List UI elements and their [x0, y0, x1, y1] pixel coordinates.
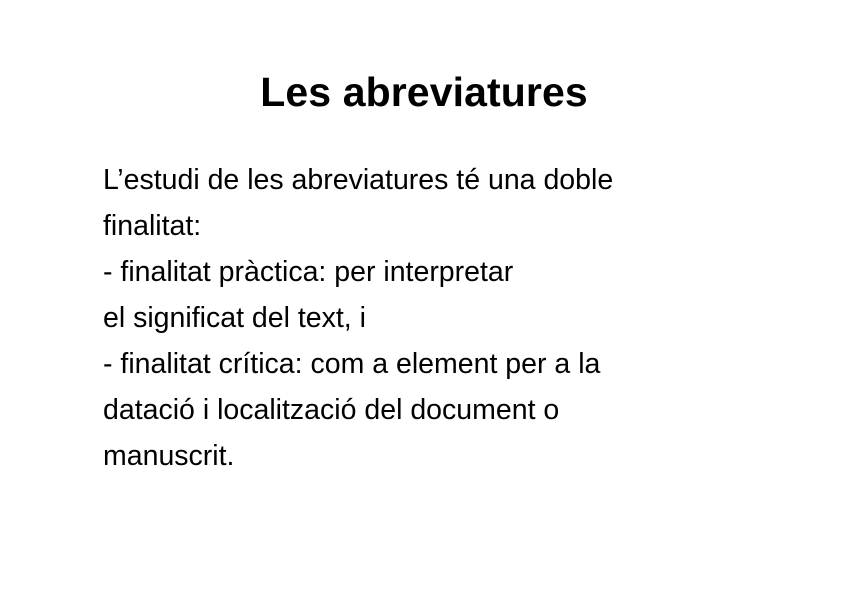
body-line: - finalitat crítica: com a element per a…: [103, 341, 763, 387]
body-line: el significat del text, i: [103, 295, 763, 341]
body-line: datació i localització del document o: [103, 387, 763, 433]
slide-title: Les abreviatures: [0, 68, 848, 116]
body-line: finalitat:: [103, 203, 763, 249]
body-line: manuscrit.: [103, 433, 763, 479]
slide-body-text-block: L’estudi de les abreviatures té una dobl…: [103, 157, 763, 479]
slide-canvas: Les abreviatures L’estudi de les abrevia…: [0, 0, 848, 599]
body-line: - finalitat pràctica: per interpretar: [103, 249, 763, 295]
body-line: L’estudi de les abreviatures té una dobl…: [103, 157, 763, 203]
